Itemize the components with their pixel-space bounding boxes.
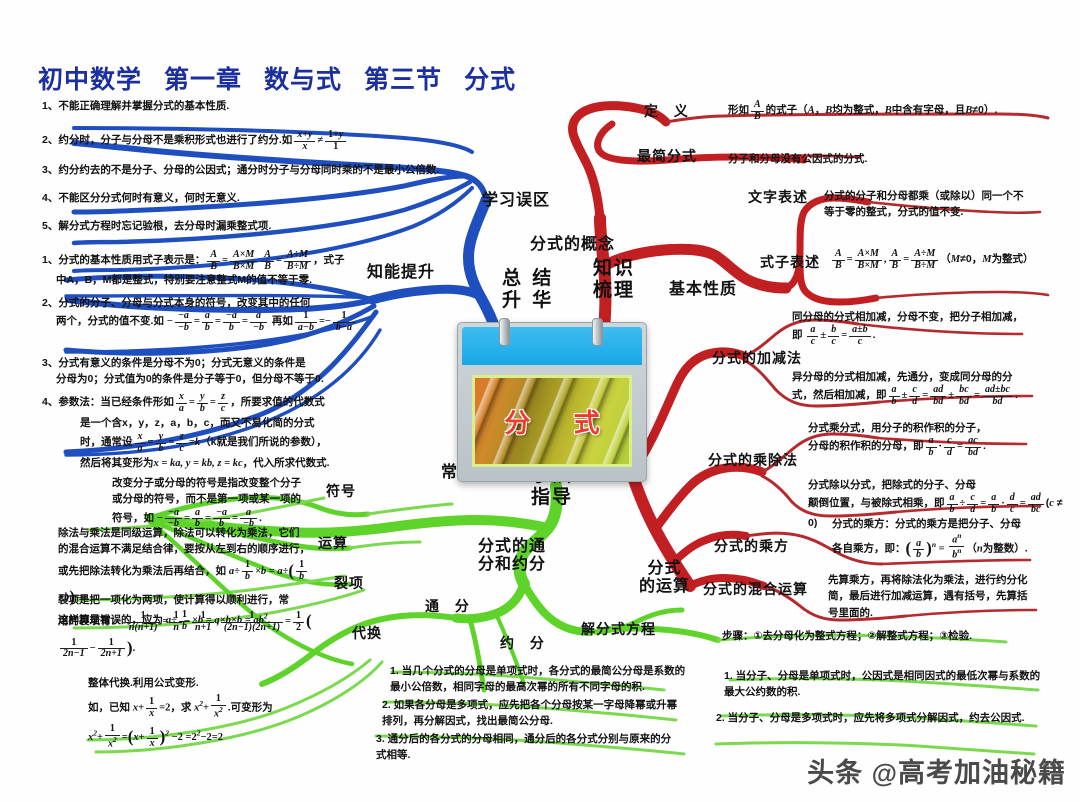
tisheng-item-4-line2: ，所要求值的代数式 <box>230 396 325 408</box>
liexiang-l1: 裂项是把一项化为两项，使计算得以顺利进行，常 <box>58 594 289 606</box>
formula-neg-a-over-neg-b: −a−b <box>175 311 192 333</box>
formula-a-over-b-pow: ab <box>913 539 924 561</box>
formula-c-over-d-add: cd <box>909 385 920 407</box>
tisheng-item-3-line2: 分母为0；分式值为0的条件是分子等于0，但分母不等于0. <box>56 373 324 385</box>
gainian-dingyi-text: 形如AB的式子（A，B均为整式，B中含有字母，且B≠0）. <box>728 100 1058 122</box>
formula-a-over-b-div2: ab <box>988 493 999 515</box>
label-yuefen[interactable]: 约 分 <box>500 635 550 651</box>
formula-1-over-b-minus-a: 1b−a <box>333 311 355 333</box>
page-title: 初中数学第一章数与式第三节分式 <box>38 60 516 96</box>
zongjie-line2: 升 华 <box>502 290 554 311</box>
tisheng-item-1-line2: 中A，B，M都是整式，特别要注意整式M的值不等于零. <box>56 274 312 286</box>
formula-neg-a-over-b: −ab <box>223 311 240 333</box>
formula-a-over-b-2: AB <box>261 250 274 272</box>
formula-a-over-b-div: ab <box>947 493 958 515</box>
jiajianfa-b1-l1: 同分母的分式相加减，分母不变，把分子相加减， <box>792 311 1023 323</box>
title-seg-0: 初中数学 <box>38 66 142 94</box>
label-daihuan[interactable]: 代换 <box>352 625 382 641</box>
formula-1-over-b-op2: 1b <box>296 560 307 582</box>
hunhe-block: 先算乘方，再将除法化为乘法，进行约分化 简，最后进行加减运算，遇有括号，先算括 … <box>828 572 1058 621</box>
fuhao-l2: 或分母的符号，而不是第一项或某一项的 <box>112 493 301 505</box>
label-yunsuan[interactable]: 运算 <box>318 535 348 551</box>
wuqu-item-5: 5、解分式方程时忘记验根，去分母时漏乘整式项. <box>42 218 402 234</box>
tisheng-item-1-tail: ，式子 <box>313 254 345 266</box>
label-fuhao[interactable]: 符号 <box>326 483 356 499</box>
formula-1-plus-y-over-1: 1+y1 <box>325 130 346 152</box>
formula-an-over-bn: anbn <box>949 532 964 561</box>
yuefen-item-2: 2. 当分子、分母是多项式时，应先将多项式分解因式，约去公因式. <box>716 710 1046 726</box>
yunsuan-l1: 除法与乘法是同级运算，除法可以转化为乘法，它们 <box>58 527 300 539</box>
label-jiajianfa[interactable]: 分式的加减法 <box>712 350 802 366</box>
formula-a-over-b-p1: AB <box>832 249 845 271</box>
tisheng-item-4-line6: 然后将其变形为 <box>80 457 154 469</box>
jiajianfa-block-1: 同分母的分式相加减，分母不变，把分子相加减， 即 ac±bc=a±bc. <box>792 309 1052 347</box>
formula-z-over-c: zc <box>218 392 228 414</box>
formula-c-over-d-mul: cd <box>944 436 955 458</box>
formula-a-over-b-add: ab <box>889 385 900 407</box>
formula-1-over-nn1: 1n(n+1) <box>126 611 160 633</box>
tisheng-item-3: 3、分式有意义的条件是分母不为0；分式无意义的条件是 分母为0；分式值为0的条件… <box>42 355 382 388</box>
formula-adivm-over-bdivm-p: A÷MB÷M <box>911 249 938 271</box>
label-jie-fenshi-fangcheng[interactable]: 解分式方程 <box>581 621 656 637</box>
mindmap-canvas: 初中数学第一章数与式第三节分式 1、不能正确理解并掌握分式的基本性质. 2、约分… <box>0 0 1080 802</box>
tisheng-item-2-line1: 2、分式的分子、分母与分式本身的符号，改变其中的任何 <box>42 297 310 309</box>
formula-1-over-2n1-2n1: 1(2n−1)(2n+1) <box>221 611 283 633</box>
formula-ad-pm-bc-over-bd: ad±bcbd <box>982 385 1013 407</box>
chengfang-l1: 分式的乘方：分式的乘方是把分子、分母 <box>832 518 1021 530</box>
wuqu-item-2-text: 2、约分时，分子与分母不是乘积形式也进行了约分.如 <box>42 134 292 146</box>
chengchufa-b1-l1: 分式乘分式，用分子的积作积的分子， <box>808 422 987 434</box>
watermark-at-symbol: @ <box>872 758 898 788</box>
formula-ad-over-bc: adbc <box>1028 493 1044 515</box>
xingzhi-wenzi-line2: 等于零的整式，分式的值不变. <box>824 206 963 218</box>
label-chengfang[interactable]: 分式的乘方 <box>714 538 789 554</box>
tisheng-item-4: 4、参数法：当已经条件形如xa=yb=zc，所要求值的代数式 是一个含x，y，z… <box>42 392 382 474</box>
zongjie-line1: 总 结 <box>502 268 554 289</box>
tisheng-item-4-line4: 时，通常设 <box>80 436 133 448</box>
formula-c-over-d-div: cd <box>967 493 978 515</box>
formula-x-plus-y-over-x: x+yx <box>294 130 315 152</box>
formula-1-over-n: 1n <box>170 611 182 633</box>
label-wenzi-biaoshu[interactable]: 文字表述 <box>748 189 808 205</box>
formula-1-over-2n-1: 12n−1 <box>60 638 88 660</box>
tisheng-item-2-line2: 两个，分式的值不变.如 <box>56 315 164 327</box>
label-jiben-xingzhi[interactable]: 基本性质 <box>669 281 737 299</box>
xuefa-line2: 指导 <box>531 487 573 508</box>
formula-1-over-x: 1x <box>146 697 157 719</box>
daihuan-l1: 整体代换.利用公式变形. <box>88 677 199 689</box>
formula-bc-over-bd: bcbd <box>956 385 972 407</box>
label-chengchufa[interactable]: 分式的乘除法 <box>708 452 798 468</box>
tisheng-item-3-line1: 3、分式有意义的条件是分母不为0；分式无意义的条件是 <box>42 357 306 369</box>
tisheng-item-4-line5: （k就是我们所说的参数）， <box>200 436 327 448</box>
yuefen-item-1: 1. 当分子、分母是单项式时，公因式是相同因式的最低次幂与系数的最大公约数的积. <box>724 668 1044 701</box>
formula-1-over-n1: 1n+1 <box>192 611 214 633</box>
title-seg-3: 第三节 <box>364 66 442 94</box>
label-zongjie-shenghua[interactable]: 总 结 升 华 <box>502 268 554 312</box>
hunhe-l3: 号里面的. <box>828 607 873 619</box>
zhishi-line1: 知识 <box>593 258 635 279</box>
formula-1-over-a-minus-b: 1a−b <box>295 311 317 333</box>
formula-x-over-a-2: xa <box>135 432 146 454</box>
formula-axm-over-bxm-p: A×MB×M <box>855 249 882 271</box>
chengfang-block: 分式的乘方：分式的乘方是把分子、分母 各自乘方，即：(ab)n = anbn（n… <box>832 516 1072 562</box>
tisheng-item-2-line3: 再如 <box>272 315 293 327</box>
label-fenshi-yunsuan[interactable]: 分式 的运算 <box>639 560 690 597</box>
watermark: 头条 @高考加油秘籍 <box>807 751 1066 790</box>
label-zuijian-fenshi[interactable]: 最简分式 <box>637 148 697 164</box>
tisheng-item-1: 1、分式的基本性质用式子表示是：AB=A×MB×MAB=A÷MB÷M，式子 中A… <box>42 250 372 288</box>
label-tongfen[interactable]: 通 分 <box>425 598 475 614</box>
center-title: 分 式 <box>486 403 617 440</box>
title-seg-4: 分式 <box>464 66 516 94</box>
formula-axm-over-bxm: A×MB×M <box>230 250 257 272</box>
formula-y-over-b: yb <box>197 392 208 414</box>
label-dingyi[interactable]: 定 义 <box>644 103 694 119</box>
label-shizi-biaoshu[interactable]: 式子表述 <box>760 254 820 270</box>
formula-ad-over-bd: adbd <box>930 385 946 407</box>
hunhe-l2: 简，最后进行加减运算，遇有括号，先算括 <box>828 590 1028 602</box>
yunsuan-l2: 的混合运算不满足结合律，要按从左到右的顺序进行， <box>58 543 310 555</box>
tisheng-item-4-line1: 4、参数法：当已经条件形如 <box>42 396 174 408</box>
label-zhishi-shuli[interactable]: 知识 梳理 <box>593 258 635 302</box>
jiqiao-fuhao-text: 改变分子或分母的符号是指改变整个分子 或分母的符号，而不是第一项或某一项的 符号… <box>112 475 327 530</box>
formula-1-over-x2-b: 1x2 <box>105 724 120 749</box>
xingzhi-wenzi-line1: 分式的分子和分母都乘（或除以）同一个不 <box>824 190 1024 202</box>
formula-1-over-b-op: 1b <box>242 560 253 582</box>
fenshi-yunsuan-line2: 的运算 <box>639 578 690 595</box>
center-card-header <box>462 327 642 365</box>
jiqiao-liexiang-text: 裂项是把一项化为两项，使计算得以顺利进行，常 用的裂项有： 1n(n+1)=1n… <box>58 592 328 661</box>
formula-a-over-c: ac <box>807 325 818 347</box>
tongfen-item-1: 1. 当几个分式的分母是单项式时，各分式的最简公分母是系数的最小公倍数，相同字母… <box>390 663 690 696</box>
yunsuan-l3: 或先把除法转化为乘法后再结合，如 <box>58 565 226 577</box>
formula-z-over-c-2: zc <box>176 432 186 454</box>
formula-a-over-neg-b: a−b <box>250 311 267 333</box>
fuhao-l1: 改变分子或分母的符号是指改变整个分子 <box>112 477 301 489</box>
formula-b-over-c: bc <box>828 325 839 347</box>
gainian-zuijian-text: 分子和分母没有公因式的分式. <box>728 151 1028 167</box>
jiajianfa-block-2: 异分母的分式相加减，先通分，变成同分母的分 式，然后相加减，即ab±cd=adb… <box>792 369 1060 407</box>
wuqu-item-1: 1、不能正确理解并掌握分式的基本性质. <box>42 98 372 114</box>
fenshi-yunsuan-line1: 分式 <box>648 560 682 577</box>
formula-adivm-over-bdivm: A÷MB÷M <box>284 250 311 272</box>
jiqiao-daihuan-text: 整体代换.利用公式变形. 如，已知 x+1x=2，求 x2+1x2.可变形为 x… <box>88 672 368 755</box>
formula-1-over-x-b: 1x <box>147 727 158 749</box>
tisheng-item-2: 2、分式的分子、分母与分式本身的符号，改变其中的任何 两个，分式的值不变.如 −… <box>42 295 372 333</box>
formula-a-over-b-3: ab <box>202 311 213 333</box>
tisheng-item-1-line1: 1、分式的基本性质用式子表示是： <box>42 254 205 266</box>
wuqu-item-4: 4、不能区分分式何时有意义，何时无意义. <box>42 190 382 206</box>
formula-x-over-a: xa <box>176 392 187 414</box>
formula-y-over-b-2: yb <box>155 432 166 454</box>
fangcheng-steps: 步骤：①去分母化为整式方程；②解整式方程；③检验. <box>722 628 1022 644</box>
title-seg-2: 数与式 <box>264 66 342 94</box>
wuqu-item-2: 2、约分时，分子与分母不是乘积形式也进行了约分.如x+yx≠1+y1 <box>42 130 462 152</box>
label-hunhe-yunsuan[interactable]: 分式的混合运算 <box>703 581 808 597</box>
watermark-prefix: 头条 <box>807 758 863 788</box>
formula-d-over-c: dc <box>1007 493 1018 515</box>
liexiang-l2: 用的裂项有： <box>58 615 121 627</box>
jiajianfa-b2-l1: 异分母的分式相加减，先通分，变成同分母的分 <box>792 371 1013 383</box>
binder-ring-left-icon <box>499 318 510 346</box>
label-fenshi-gainian[interactable]: 分式的概念 <box>530 236 615 254</box>
fenshi-tongfen-line1: 分式的通 <box>478 538 546 555</box>
watermark-name: 高考加油秘籍 <box>898 758 1066 788</box>
title-seg-1: 第一章 <box>164 66 242 94</box>
formula-1-over-2n-plus-1: 12n+1 <box>98 638 125 660</box>
label-fenshi-tongfen-yuefen[interactable]: 分式的通 分和约分 <box>478 538 546 575</box>
formula-a-over-b-def: AB <box>751 100 764 122</box>
formula-ac-over-bd: acbd <box>965 436 981 458</box>
formula-a-pm-b-over-c: a±bc <box>849 325 871 347</box>
chengchufa-block-1: 分式乘分式，用分子的积作积的分子， 分母的积作积的分母，即ab·cd=acbd. <box>808 420 1058 458</box>
wuqu-item-3: 3、约分约去的不是分子、分母的公因式；通分时分子与分母同时乘的不是最小公倍数. <box>42 162 472 178</box>
xingzhi-shizi-text: AB=A×MB×M,AB=A÷MB÷M（M≠0，M为整式） <box>830 249 1080 271</box>
tisheng-item-4-line3: 是一个含x，y，z，a，b，c，而又不易化简的分式 <box>80 417 315 429</box>
formula-a-over-b-1: AB <box>207 250 220 272</box>
tisheng-item-4-line7: ，代入所求代数式. <box>243 457 330 469</box>
label-xuexi-wuqu[interactable]: 学习误区 <box>482 192 550 210</box>
center-card-screen: 分 式 <box>472 375 632 467</box>
fenshi-tongfen-line2: 分和约分 <box>478 556 546 573</box>
formula-a-over-b-p2: AB <box>889 249 902 271</box>
label-liexiang[interactable]: 裂项 <box>334 575 364 591</box>
tongfen-item-3: 3. 通分后的各分式的分母相同，通分后的各分式分别与原来的分式相等. <box>376 731 676 764</box>
label-zhineng-tisheng[interactable]: 知能提升 <box>367 264 435 282</box>
hunhe-l1: 先算乘方，再将除法化为乘法，进行约分化 <box>828 574 1028 586</box>
tongfen-item-2: 2. 如果各分母是多项式，应先把各个分母按某一字母降幂或升幂排列，再分解因式，找… <box>382 697 687 730</box>
center-node-card[interactable]: 分 式 <box>457 322 647 482</box>
fuhao-l3: 符号，如 <box>112 512 154 524</box>
xingzhi-wenzi-text: 分式的分子和分母都乘（或除以）同一个不 等于零的整式，分式的值不变. <box>824 188 1054 221</box>
formula-1-over-x2: 1x2 <box>211 694 226 719</box>
formula-half: 12 <box>293 611 304 633</box>
chengchufa-b2-l1: 分式除以分式，把除式的分子、分母 <box>808 479 976 491</box>
binder-ring-right-icon <box>592 318 603 346</box>
zhishi-line2: 梳理 <box>593 280 635 301</box>
formula-a-over-b-mul: ab <box>926 436 937 458</box>
